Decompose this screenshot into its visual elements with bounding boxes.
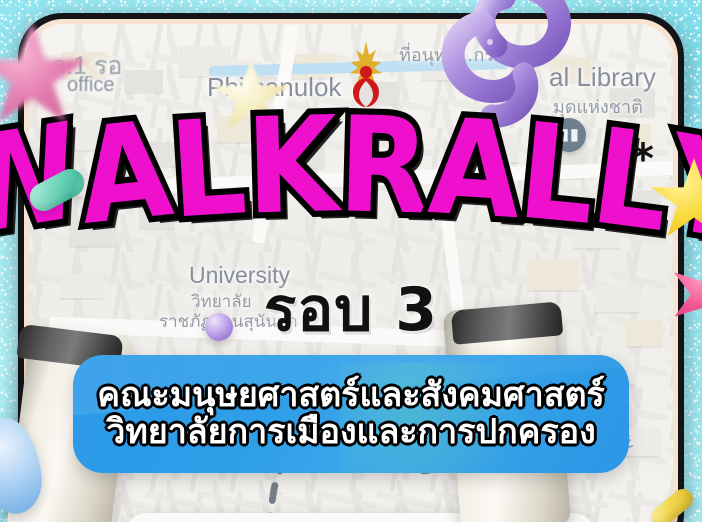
faculty-line-1: คณะมนุษยศาสตร์และสังคมศาสตร์ [97,377,605,414]
map-label-library: al Library [549,62,656,93]
book-icon [560,128,579,143]
faculty-label-box: คณะมนุษยศาสตร์และสังคมศาสตร์ วิทยาลัยการ… [73,355,629,473]
map-label-phitsanulok: Phitsanulok [207,72,341,103]
round-label: รอบ 3 [0,262,702,357]
map-label-th: Th [621,202,649,230]
thai-royal-emblem-icon [334,38,398,128]
walk-rally-poster: ถ.1 รอ office Phitsanulok ที่อนุทร…กร al… [0,0,702,522]
map-label-library-thai: มุดแห่งชาติ [553,92,643,121]
map-label-office: office [67,74,114,97]
map-label-thai-top: ที่อนุทร…กร [399,40,494,69]
poi-library-marker[interactable] [552,118,586,152]
faculty-line-2: วิทยาลัยการเมืองและการปกครอง [106,414,595,451]
